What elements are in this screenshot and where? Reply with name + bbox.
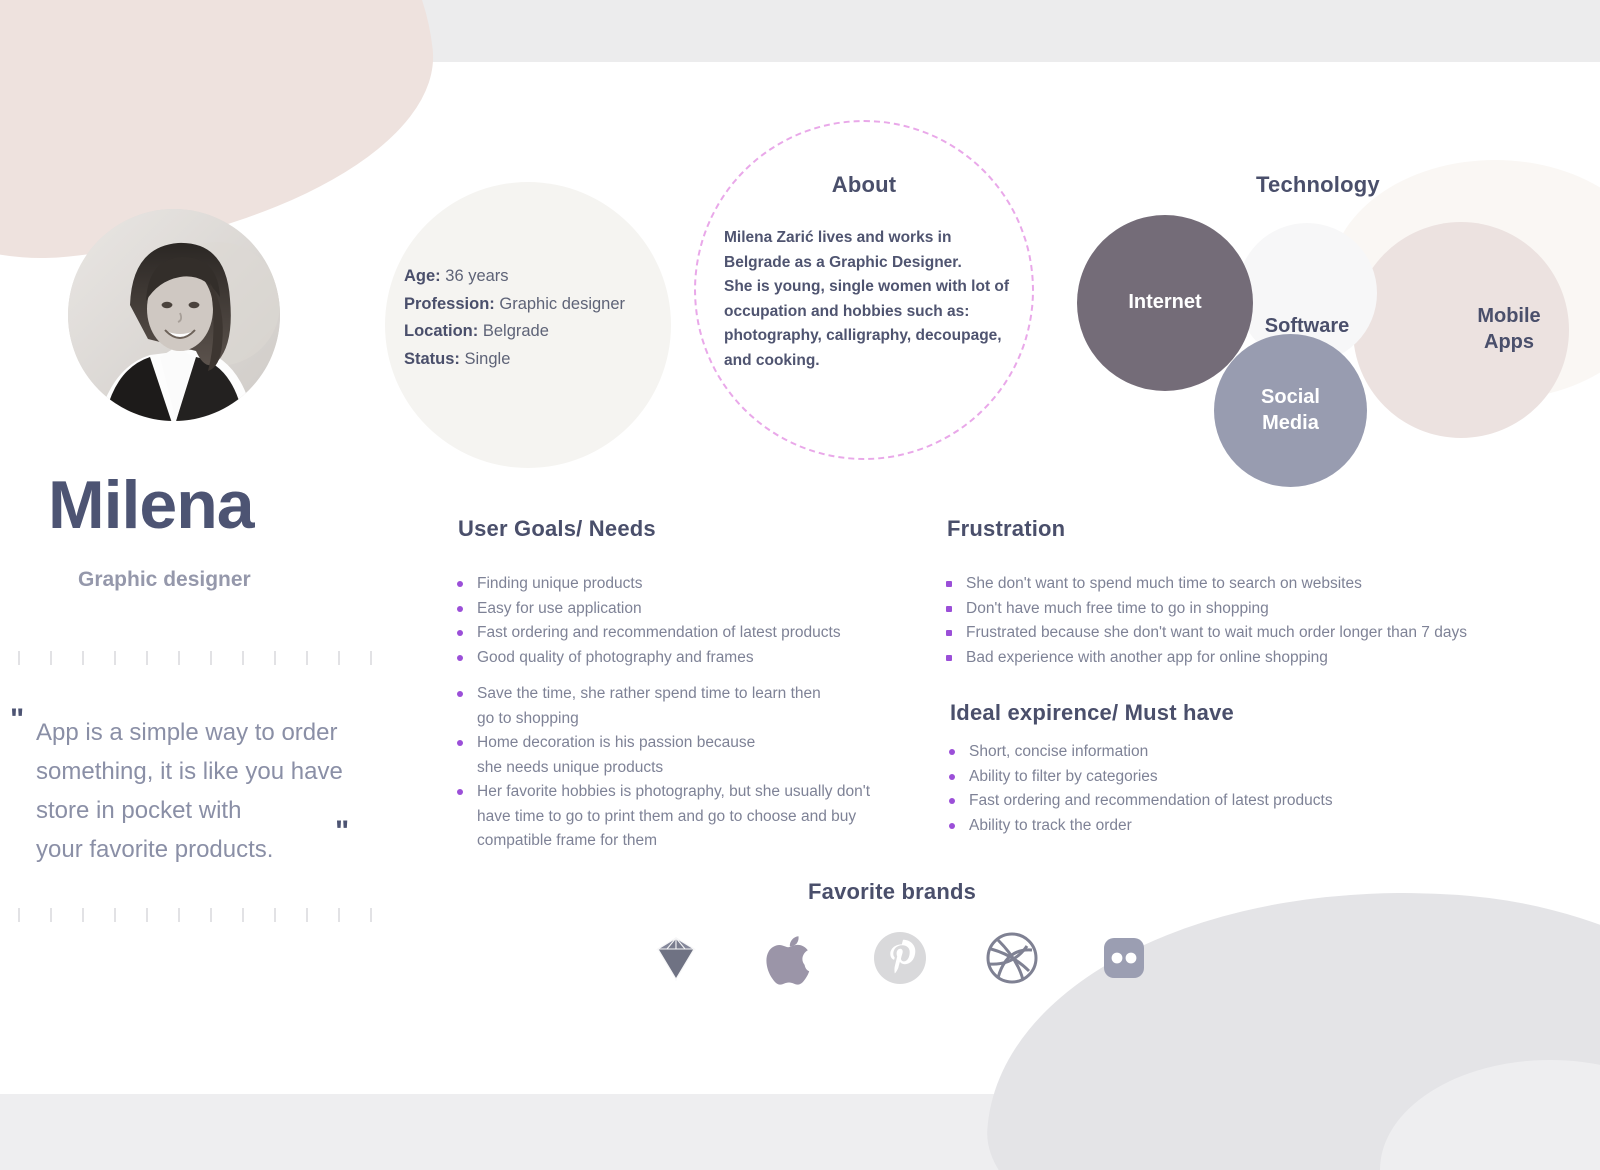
tick-divider-top (18, 651, 388, 665)
tech-circle-social-media: Social Media (1214, 334, 1367, 487)
list-item: Fast ordering and recommendation of late… (455, 621, 925, 646)
quote-line: App is a simple way to order (36, 713, 436, 752)
list-item-text-cont: she needs unique products (477, 756, 925, 781)
list-item-text: Fast ordering and recommendation of late… (969, 789, 1417, 814)
info-value: 36 years (445, 267, 508, 285)
tech-mobile-label-line1: Mobile (1477, 305, 1540, 327)
pinterest-icon (870, 928, 930, 988)
dribbble-icon (982, 928, 1042, 988)
about-text: Milena Zarić lives and works in Belgrade… (724, 226, 1024, 373)
tech-social-label-line1: Social (1261, 386, 1320, 408)
list-item-text: Finding unique products (477, 572, 925, 597)
favorite-brands-row (646, 928, 1166, 988)
about-title: About (694, 172, 1034, 198)
list-item-text-cont2: compatible frame for them (477, 829, 925, 854)
list-item-text: Fast ordering and recommendation of late… (477, 621, 925, 646)
info-row: Status: Single (404, 346, 625, 374)
about-line: She is young, single women with lot of (724, 275, 1024, 300)
info-label: Location: (404, 322, 478, 340)
tech-mobile-label: Mobile Apps (1453, 304, 1516, 355)
persona-poster: Milena Graphic designer " App is a simpl… (0, 0, 1600, 1170)
list-item: Her favorite hobbies is photography, but… (455, 780, 925, 854)
person-role: Graphic designer (78, 568, 251, 592)
list-item-text: Ability to filter by categories (969, 765, 1417, 790)
list-item-text: Frustrated because she don't want to wai… (966, 621, 1524, 646)
list-item-text: She don't want to spend much time to sea… (966, 572, 1524, 597)
about-line: Milena Zarić lives and works in (724, 226, 1024, 251)
list-item: Ability to filter by categories (947, 765, 1417, 790)
list-item-text-cont: go to shopping (477, 707, 925, 732)
info-value: Graphic designer (499, 295, 625, 313)
list-item-text: Save the time, she rather spend time to … (477, 682, 925, 707)
list-item: Bad experience with another app for onli… (944, 646, 1524, 671)
quote-close-icon: " (335, 817, 349, 847)
list-item: Don't have much free time to go in shopp… (944, 597, 1524, 622)
apple-icon (758, 928, 818, 988)
about-line: and cooking. (724, 349, 1024, 374)
portrait-photo-icon (68, 209, 280, 421)
quote-line: something, it is like you have (36, 752, 436, 791)
tick-divider-bottom (18, 908, 388, 922)
frustration-list: She don't want to spend much time to sea… (944, 572, 1524, 670)
tech-mobile-label-line2: Apps (1484, 331, 1534, 353)
info-label: Status: (404, 350, 460, 368)
quote-open-icon: " (10, 705, 24, 735)
list-item: Easy for use application (455, 597, 925, 622)
sketch-icon (646, 928, 706, 988)
tech-circle-mobile-apps: Mobile Apps (1353, 222, 1569, 438)
frustration-title: Frustration (947, 516, 1065, 542)
list-item: Short, concise information (947, 740, 1417, 765)
technology-title: Technology (1256, 172, 1380, 198)
about-line: occupation and hobbies such as: (724, 300, 1024, 325)
list-item-text: Ability to track the order (969, 814, 1417, 839)
list-item-text: Easy for use application (477, 597, 925, 622)
info-value: Belgrade (483, 322, 549, 340)
info-label: Profession: (404, 295, 495, 313)
list-item: Good quality of photography and frames (455, 646, 925, 671)
list-item-text: Home decoration is his passion because (477, 731, 925, 756)
info-row: Profession: Graphic designer (404, 291, 625, 319)
info-row: Age: 36 years (404, 263, 625, 291)
list-item-text: Don't have much free time to go in shopp… (966, 597, 1524, 622)
user-goals-list: Finding unique products Easy for use app… (455, 572, 925, 854)
list-item-text: Good quality of photography and frames (477, 646, 925, 671)
info-list: Age: 36 years Profession: Graphic design… (404, 263, 625, 373)
list-item: Home decoration is his passion because s… (455, 731, 925, 780)
tech-circle-internet: Internet (1077, 215, 1253, 391)
user-goals-title: User Goals/ Needs (458, 516, 656, 542)
favorite-brands-title: Favorite brands (808, 879, 976, 905)
tech-social-label: Social Media (1261, 385, 1320, 436)
flickr-icon (1094, 928, 1154, 988)
list-item: She don't want to spend much time to sea… (944, 572, 1524, 597)
list-item: Ability to track the order (947, 814, 1417, 839)
ideal-experience-title: Ideal expirence/ Must have (950, 700, 1234, 726)
about-line: photography, calligraphy, decoupage, (724, 324, 1024, 349)
about-line: Belgrade as a Graphic Designer. (724, 251, 1024, 276)
info-label: Age: (404, 267, 441, 285)
list-item-text: Her favorite hobbies is photography, but… (477, 780, 925, 805)
tech-social-label-line2: Media (1262, 412, 1319, 434)
tech-internet-label: Internet (1128, 290, 1201, 316)
info-row: Location: Belgrade (404, 318, 625, 346)
list-item-text-cont: have time to go to print them and go to … (477, 805, 925, 830)
quote-line: your favorite products. (36, 830, 436, 869)
list-item-text: Short, concise information (969, 740, 1417, 765)
ideal-experience-list: Short, concise information Ability to fi… (947, 740, 1417, 838)
list-item: Frustrated because she don't want to wai… (944, 621, 1524, 646)
list-item-text: Bad experience with another app for onli… (966, 646, 1524, 671)
quote-text: App is a simple way to order something, … (36, 713, 436, 869)
info-value: Single (465, 350, 511, 368)
list-item: Finding unique products (455, 572, 925, 597)
list-item: Save the time, she rather spend time to … (455, 682, 925, 731)
list-item: Fast ordering and recommendation of late… (947, 789, 1417, 814)
page-title: Milena (48, 466, 254, 544)
quote-line: store in pocket with (36, 791, 436, 830)
avatar (68, 209, 280, 421)
